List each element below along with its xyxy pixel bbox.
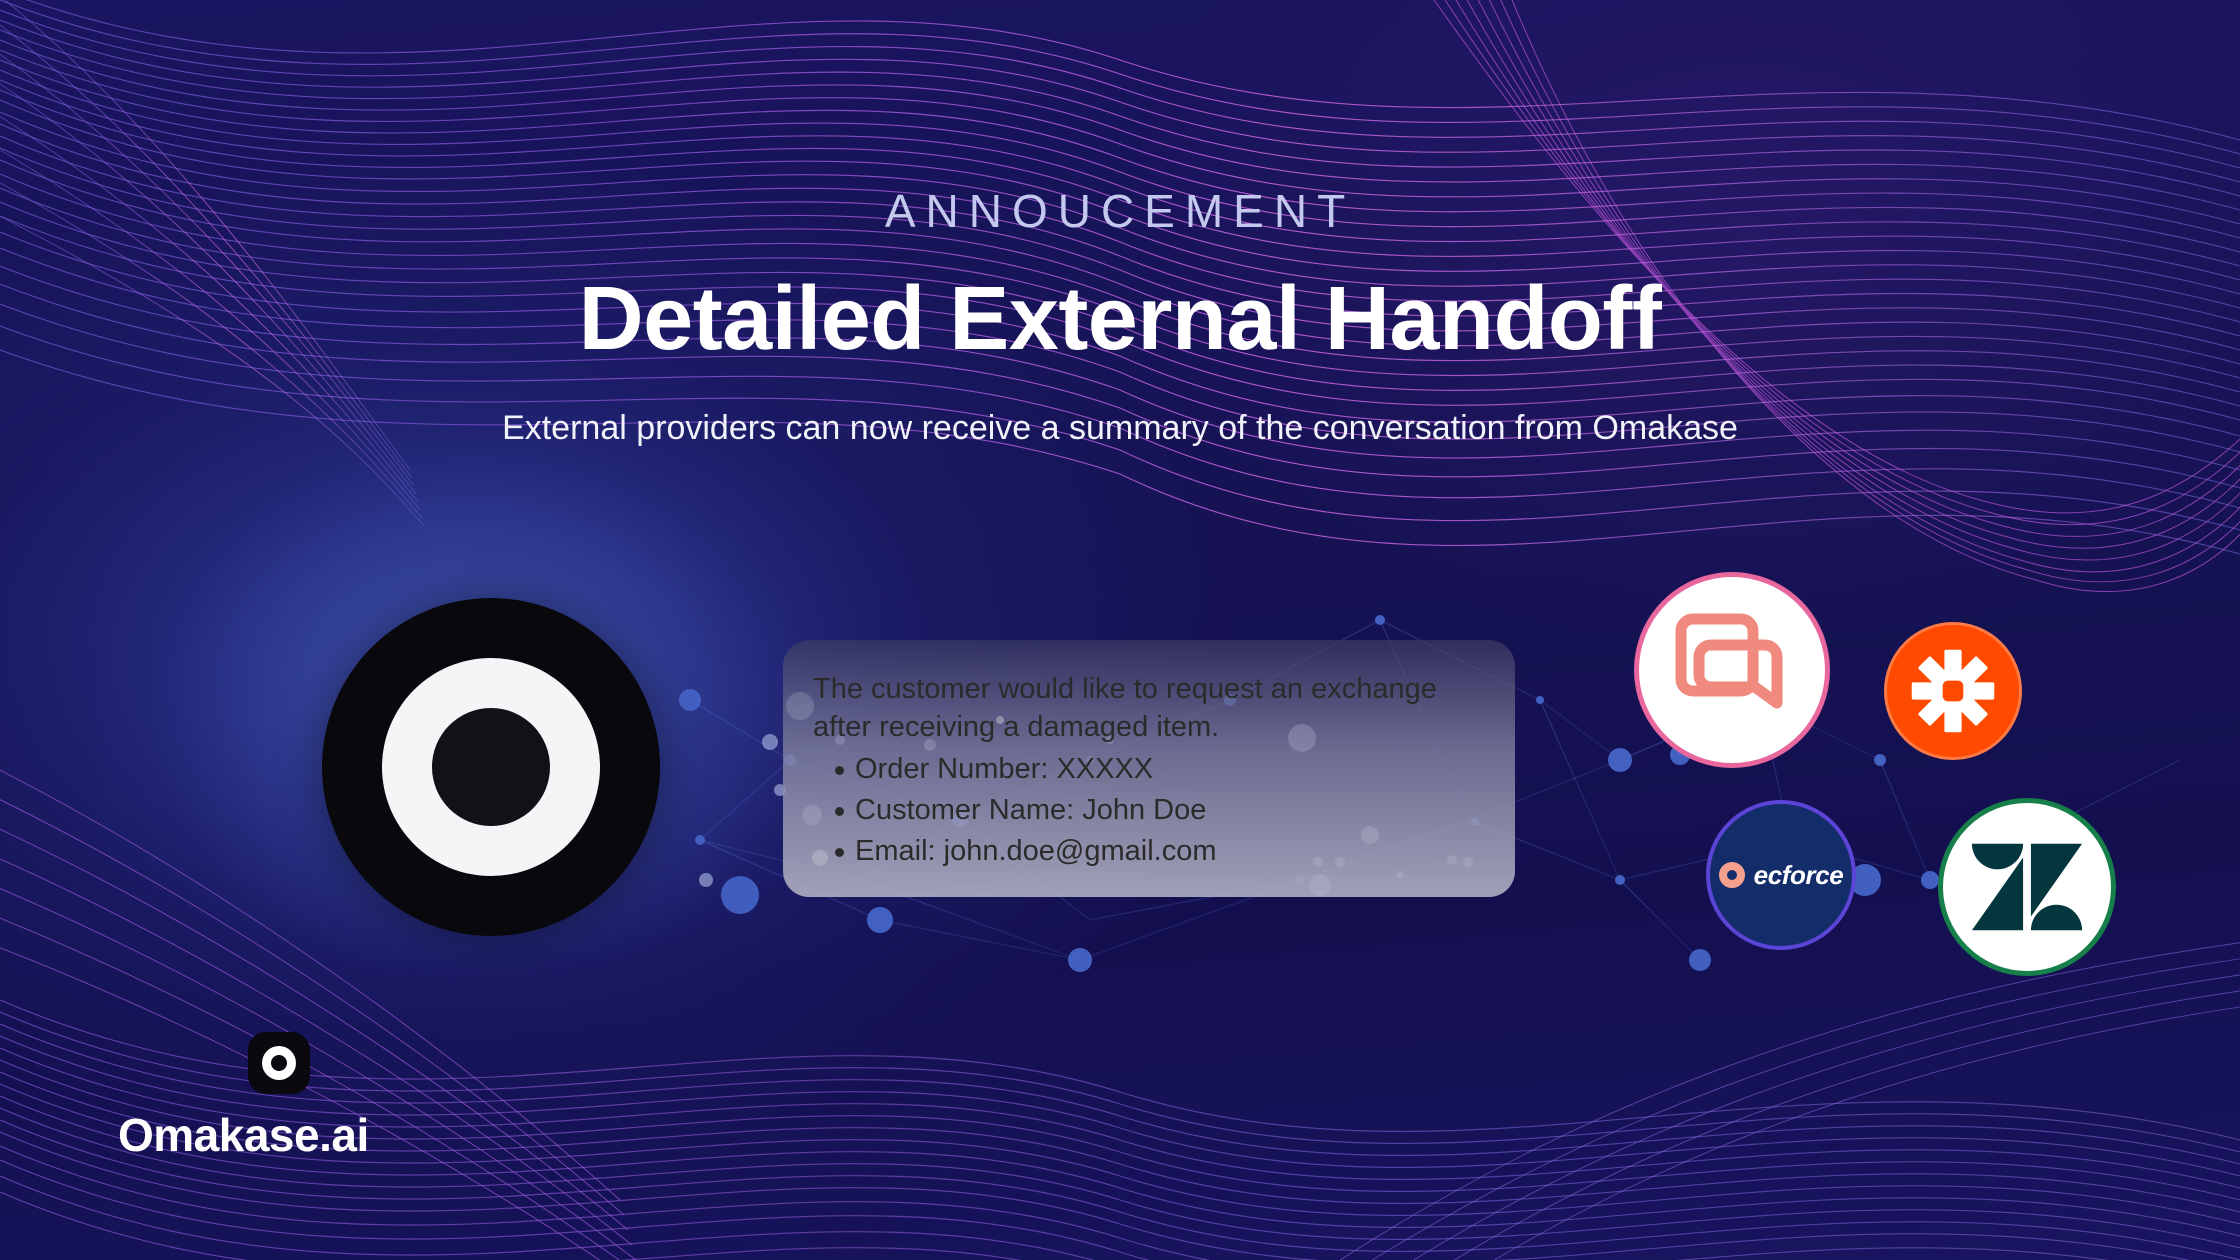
omakase-badge-icon bbox=[248, 1032, 310, 1094]
summary-message-bubble: The customer would like to request an ex… bbox=[783, 640, 1515, 897]
page-title: Detailed External Handoff bbox=[0, 270, 2240, 369]
page-subtitle: External providers can now receive a sum… bbox=[0, 407, 2240, 450]
badge-dot bbox=[271, 1055, 287, 1071]
headings-block: ANNOUCEMENT Detailed External Handoff Ex… bbox=[0, 0, 2240, 450]
integration-logo-zapier[interactable] bbox=[1884, 622, 2022, 760]
list-item: Order Number: XXXXX bbox=[813, 749, 1481, 790]
integration-logo-channel-talk[interactable] bbox=[1634, 572, 1830, 768]
eyebrow-label: ANNOUCEMENT bbox=[0, 188, 2240, 234]
integration-logo-ecforce[interactable]: ecforce bbox=[1706, 800, 1856, 950]
badge-ring bbox=[262, 1046, 296, 1080]
ecforce-label: ecforce bbox=[1754, 860, 1844, 891]
brand-name: Omakase.ai bbox=[118, 1108, 369, 1162]
list-item: Customer Name: John Doe bbox=[813, 790, 1481, 831]
ecforce-ring-icon bbox=[1719, 862, 1745, 888]
summary-detail-list: Order Number: XXXXX Customer Name: John … bbox=[813, 749, 1481, 873]
asterisk-icon bbox=[1910, 648, 1996, 734]
omakase-ring-logo bbox=[322, 598, 660, 936]
omakase-ring bbox=[382, 658, 600, 876]
ecforce-wordmark: ecforce bbox=[1719, 860, 1844, 891]
zendesk-z-icon bbox=[1968, 828, 2086, 946]
brand-lockup: Omakase.ai bbox=[118, 1032, 369, 1162]
chat-bubbles-icon bbox=[1673, 611, 1791, 729]
integration-logo-zendesk[interactable] bbox=[1938, 798, 2116, 976]
announcement-banner: ANNOUCEMENT Detailed External Handoff Ex… bbox=[0, 0, 2240, 1260]
list-item: Email: john.doe@gmail.com bbox=[813, 831, 1481, 872]
summary-paragraph: The customer would like to request an ex… bbox=[813, 670, 1481, 747]
omakase-center-dot bbox=[432, 708, 550, 826]
